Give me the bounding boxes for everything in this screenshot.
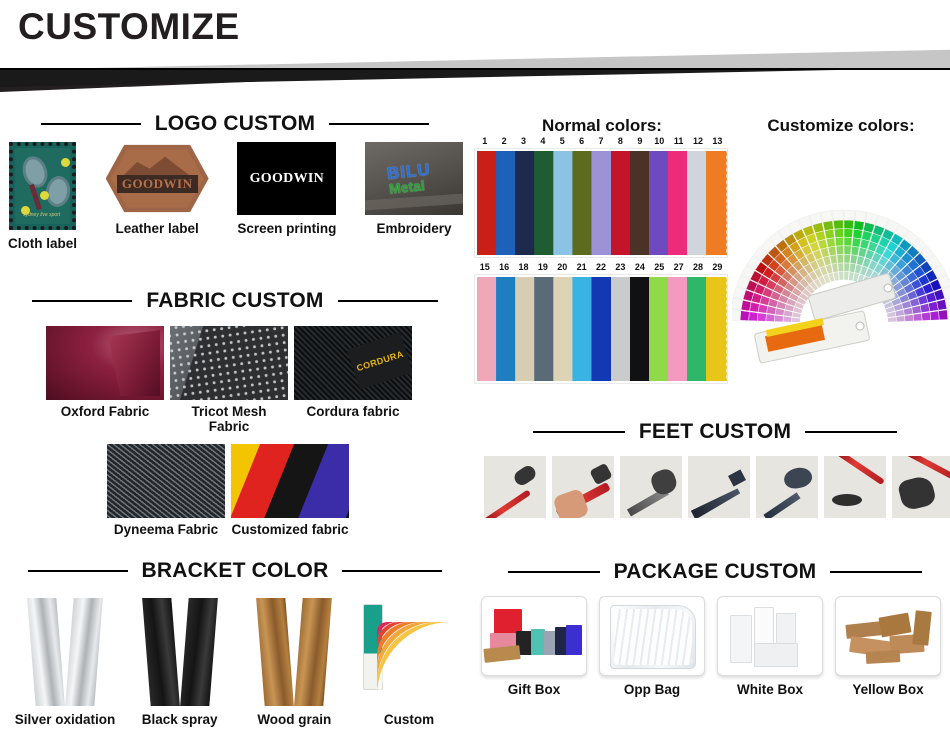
dyneema-fabric-image[interactable] [107, 444, 225, 518]
fan-blade-tip [821, 211, 833, 222]
fan-color-chip [913, 313, 922, 321]
fabric-row-1: CORDURA [46, 326, 412, 400]
color-swatch[interactable] [591, 277, 612, 381]
fan-color-chip [774, 315, 783, 322]
swatch-number: 11 [669, 136, 688, 146]
heading-rule-left [533, 431, 625, 433]
color-swatch[interactable] [687, 277, 708, 381]
swatch-number: 22 [591, 262, 610, 272]
cordura-tag-text: CORDURA [355, 349, 405, 374]
normal-colors-swatch-chart[interactable]: 12345678910111213 1516181920212223242527… [474, 136, 728, 384]
heading-rule-right [830, 571, 922, 573]
package-item-opp-bag[interactable]: Opp Bag [598, 596, 706, 697]
swatch-number: 10 [650, 136, 669, 146]
cloth-label-image: sydney live sport [9, 142, 76, 230]
feet-round-basket-image[interactable] [824, 456, 886, 518]
package-item-caption: Gift Box [508, 682, 561, 697]
fan-blade-tip [732, 298, 743, 310]
opp-bag-image [599, 596, 705, 676]
swatch-number: 24 [630, 262, 649, 272]
heading-rule-left [28, 570, 128, 572]
white-box-image [717, 596, 823, 676]
package-item-white-box[interactable]: White Box [716, 596, 824, 697]
fan-color-chip [844, 220, 854, 229]
feet-items-row [484, 456, 950, 518]
fan-color-chip [749, 312, 758, 321]
color-swatch[interactable] [649, 277, 670, 381]
swatch-number: 13 [708, 136, 727, 146]
fan-color-chip [854, 221, 865, 231]
heading-rule-left [41, 123, 141, 125]
logo-item-caption: Screen printing [237, 221, 336, 236]
swatch-number: 27 [669, 262, 688, 272]
swatch-number: 8 [611, 136, 630, 146]
swatch-number: 6 [572, 136, 591, 146]
fan-color-chip [844, 246, 851, 255]
swatch-number-row-2: 15161819202122232425272829 [474, 262, 728, 272]
bracket-color-heading: BRACKET COLOR [0, 559, 470, 583]
swatch-number: 7 [591, 136, 610, 146]
bracket-item-caption: Custom [384, 712, 434, 727]
feet-flower-basket-image[interactable] [620, 456, 682, 518]
fabric-captions-1: Oxford Fabric Tricot Mesh Fabric Cordura… [46, 404, 416, 434]
silver-bracket-image [17, 594, 113, 706]
fan-blade-tip [732, 309, 741, 320]
fan-color-chip [766, 314, 775, 322]
oxford-fabric-image[interactable] [46, 326, 164, 400]
fabric-custom-title: FABRIC CUSTOM [146, 289, 323, 313]
fan-color-chip [853, 229, 863, 239]
package-item-gift-box[interactable]: Gift Box [480, 596, 588, 697]
bracket-color-title: BRACKET COLOR [142, 559, 329, 583]
fan-color-chip [852, 238, 861, 248]
bracket-item-black[interactable]: Black spray [127, 594, 233, 727]
color-swatch[interactable] [477, 277, 498, 381]
swatch-number: 25 [650, 262, 669, 272]
package-item-caption: Opp Bag [624, 682, 680, 697]
fan-color-chip [844, 254, 851, 263]
fabric-captions-2: Dyneema Fabric Customized fabric [107, 522, 355, 537]
bracket-item-caption: Black spray [142, 712, 218, 727]
color-swatch[interactable] [611, 151, 632, 255]
swatch-number: 16 [494, 262, 513, 272]
logo-custom-heading: LOGO CUSTOM [0, 112, 470, 136]
heading-rule-right [805, 431, 897, 433]
swatch-number: 9 [630, 136, 649, 146]
bracket-item-silver[interactable]: Silver oxidation [12, 594, 118, 727]
fan-color-chip [930, 311, 939, 320]
fabric-caption: Customized fabric [231, 522, 349, 537]
fabric-caption: Tricot Mesh Fabric [170, 404, 288, 434]
leather-label-brand: GOODWIN [122, 176, 193, 192]
color-swatch[interactable] [572, 151, 593, 255]
cloth-label-text: sydney live sport [23, 212, 60, 218]
feet-grip-hand-image[interactable] [552, 456, 614, 518]
header-rule [0, 68, 950, 70]
fan-color-chip [844, 229, 853, 238]
logo-item-leather-label[interactable]: GOODWIN Leather label [106, 142, 209, 251]
package-item-caption: White Box [737, 682, 803, 697]
pantone-fan-svg [732, 138, 950, 386]
fan-arc-icon [375, 600, 457, 700]
fan-color-chip [844, 271, 849, 280]
tricot-mesh-fabric-image[interactable] [170, 326, 288, 400]
fan-color-chip [851, 246, 859, 256]
fan-color-chip [825, 229, 835, 239]
page-title: CUSTOMIZE [18, 6, 240, 48]
fan-color-chip [837, 254, 844, 263]
swatch-number: 12 [688, 136, 707, 146]
right-column: Normal colors: Customize colors: 1234567… [470, 104, 950, 744]
fan-color-chip [896, 316, 905, 322]
color-swatch[interactable] [687, 151, 708, 255]
color-swatch[interactable] [649, 151, 670, 255]
fan-color-chip [888, 317, 897, 322]
package-items-row: Gift Box Opp Bag White Box [480, 596, 942, 697]
logo-item-embroidery[interactable]: BILU Metal Embroidery [365, 142, 463, 251]
swatch-number: 21 [572, 262, 591, 272]
heading-rule-right [342, 570, 442, 572]
swatch-number: 23 [611, 262, 630, 272]
fan-color-chip [839, 271, 844, 280]
embroidery-image: BILU Metal [365, 142, 463, 215]
swatch-number: 28 [688, 262, 707, 272]
logo-item-screen-printing[interactable]: GOODWIN Screen printing [237, 142, 336, 251]
color-swatch[interactable] [553, 151, 574, 255]
feet-custom-title: FEET CUSTOM [639, 420, 791, 444]
fan-color-chip [828, 246, 836, 256]
swatch-number: 18 [514, 262, 533, 272]
leather-label-image: GOODWIN [106, 142, 209, 215]
fan-blade-tip [844, 210, 855, 220]
color-swatch[interactable] [553, 277, 574, 381]
page-header: CUSTOMIZE [0, 0, 950, 100]
feet-mud-basket-image[interactable] [892, 456, 950, 518]
feet-snow-basket-image[interactable] [756, 456, 818, 518]
fan-color-chip [783, 316, 792, 322]
package-item-caption: Yellow Box [852, 682, 923, 697]
fabric-row-2 [107, 444, 349, 518]
heading-rule-right [329, 123, 429, 125]
bracket-item-custom[interactable]: Custom [356, 594, 462, 727]
fan-blade-tip [855, 211, 867, 222]
normal-colors-title: Normal colors: [476, 116, 728, 136]
logo-item-caption: Cloth label [8, 236, 77, 251]
fan-blade-tip [832, 210, 843, 221]
swatch-number: 3 [514, 136, 533, 146]
bracket-items-row: Silver oxidation Black spray Wood grain [12, 594, 462, 727]
package-custom-heading: PACKAGE CUSTOM [480, 560, 950, 584]
color-swatch[interactable] [496, 277, 517, 381]
color-swatch[interactable] [496, 151, 517, 255]
fan-color-chip [922, 312, 931, 321]
color-swatch[interactable] [515, 151, 536, 255]
color-swatch[interactable] [572, 277, 593, 381]
logo-item-caption: Embroidery [376, 221, 451, 236]
feet-custom-heading: FEET CUSTOM [480, 420, 950, 444]
feet-rubber-tip-image[interactable] [484, 456, 546, 518]
heading-rule-left [508, 571, 600, 573]
logo-item-cloth-label[interactable]: sydney live sport Cloth label [8, 142, 77, 251]
fan-color-chip [826, 238, 835, 248]
swatch-number: 2 [494, 136, 513, 146]
color-swatch[interactable] [668, 151, 689, 255]
screen-printing-brand: GOODWIN [250, 171, 324, 187]
customized-fabric-image[interactable] [231, 444, 349, 518]
pantone-fan-deck-image[interactable] [732, 138, 950, 386]
yellow-box-image [835, 596, 941, 676]
fan-color-chip [835, 237, 843, 246]
color-swatch[interactable] [477, 151, 498, 255]
fan-color-chip [740, 311, 749, 321]
fan-color-chip [823, 221, 834, 231]
swatch-number: 5 [553, 136, 572, 146]
logo-item-caption: Leather label [116, 221, 199, 236]
swatch-number: 1 [475, 136, 494, 146]
swatch-color-row-1[interactable] [474, 148, 728, 258]
color-swatch[interactable] [534, 151, 555, 255]
customize-colors-title: Customize colors: [732, 116, 950, 136]
fan-color-chip [836, 246, 843, 255]
color-swatch[interactable] [534, 277, 555, 381]
swatch-number-row-1: 12345678910111213 [474, 136, 728, 146]
black-bracket-image [132, 594, 228, 706]
package-custom-title: PACKAGE CUSTOM [614, 560, 817, 584]
customize-page: CUSTOMIZE LOGO CUSTOM [0, 0, 950, 744]
left-column: LOGO CUSTOM sydney live sport Cloth [0, 104, 470, 744]
fan-color-chip [844, 237, 852, 246]
color-swatch[interactable] [515, 277, 536, 381]
color-swatch[interactable] [591, 151, 612, 255]
heading-rule-left [32, 300, 132, 302]
embroidery-brand-bottom: Metal [388, 177, 425, 197]
fan-color-chip [838, 263, 844, 272]
swatch-number: 19 [533, 262, 552, 272]
fabric-caption: Dyneema Fabric [107, 522, 225, 537]
fan-color-chip [834, 229, 843, 238]
color-swatch[interactable] [630, 151, 651, 255]
logo-custom-title: LOGO CUSTOM [155, 112, 315, 136]
feet-carbide-tip-image[interactable] [688, 456, 750, 518]
package-item-yellow-box[interactable]: Yellow Box [834, 596, 942, 697]
fan-color-chip [905, 314, 914, 321]
swatch-number: 15 [475, 262, 494, 272]
swatch-number: 20 [553, 262, 572, 272]
swatch-number: 4 [533, 136, 552, 146]
fan-color-chip [939, 310, 948, 320]
bracket-item-caption: Wood grain [257, 712, 331, 727]
fan-color-chip [757, 313, 766, 321]
color-swatch[interactable] [706, 151, 727, 255]
fabric-caption: Oxford Fabric [46, 404, 164, 434]
heading-rule-right [338, 300, 438, 302]
fan-color-chip [833, 220, 843, 229]
bracket-item-caption: Silver oxidation [15, 712, 116, 727]
cordura-fabric-image[interactable]: CORDURA [294, 326, 412, 400]
swatch-color-row-2[interactable] [474, 274, 728, 384]
wood-bracket-image [246, 594, 342, 706]
fan-blade-tip [865, 212, 877, 224]
color-swatch[interactable] [668, 277, 689, 381]
fan-blade-tip [810, 213, 822, 225]
bracket-item-wood[interactable]: Wood grain [241, 594, 347, 727]
logo-items-row: sydney live sport Cloth label GOODWIN Le… [8, 142, 463, 251]
swatch-number: 29 [708, 262, 727, 272]
fabric-caption: Cordura fabric [294, 404, 412, 434]
color-swatch[interactable] [630, 277, 651, 381]
fabric-custom-heading: FABRIC CUSTOM [0, 289, 470, 313]
fan-color-chip [844, 263, 850, 272]
color-swatch[interactable] [611, 277, 632, 381]
color-fan-deck-image [361, 594, 457, 706]
color-swatch[interactable] [706, 277, 727, 381]
screen-printing-image: GOODWIN [237, 142, 336, 215]
gift-box-image [481, 596, 587, 676]
